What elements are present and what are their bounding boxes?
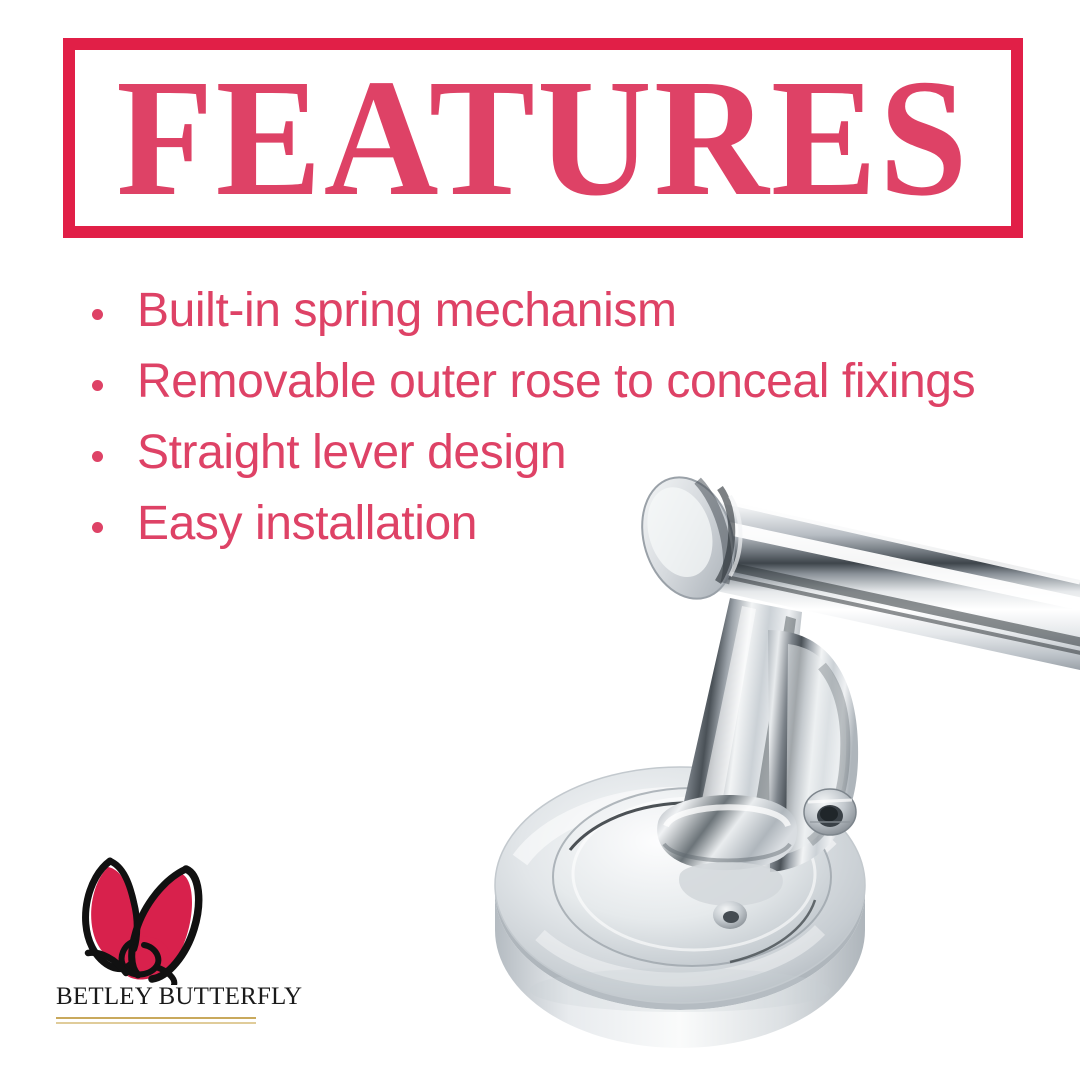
bullet-icon: [92, 309, 103, 320]
brand-logo: BETLEY BUTTERFLY: [56, 845, 266, 1030]
marketing-card: FEATURES: [0, 0, 1080, 1080]
bullet-icon: [92, 380, 103, 391]
brand-rule-top: [56, 1017, 256, 1019]
features-title-box: FEATURES: [63, 38, 1023, 238]
feature-label: Straight lever design: [137, 426, 566, 479]
list-item: Easy installation: [82, 495, 982, 552]
features-list: Built-in spring mechanism Removable oute…: [82, 282, 982, 566]
list-item: Straight lever design: [82, 424, 982, 481]
brand-rule-bottom: [56, 1022, 256, 1024]
list-item: Built-in spring mechanism: [82, 282, 982, 339]
butterfly-icon: [68, 845, 233, 985]
bullet-icon: [92, 522, 103, 533]
bullet-icon: [92, 451, 103, 462]
brand-name: BETLEY BUTTERFLY: [56, 983, 256, 1011]
feature-label: Easy installation: [137, 497, 477, 550]
page-title: FEATURES: [47, 39, 1039, 236]
list-item: Removable outer rose to conceal fixings: [82, 353, 982, 410]
feature-label: Removable outer rose to conceal fixings: [137, 355, 975, 408]
feature-label: Built-in spring mechanism: [137, 284, 677, 337]
